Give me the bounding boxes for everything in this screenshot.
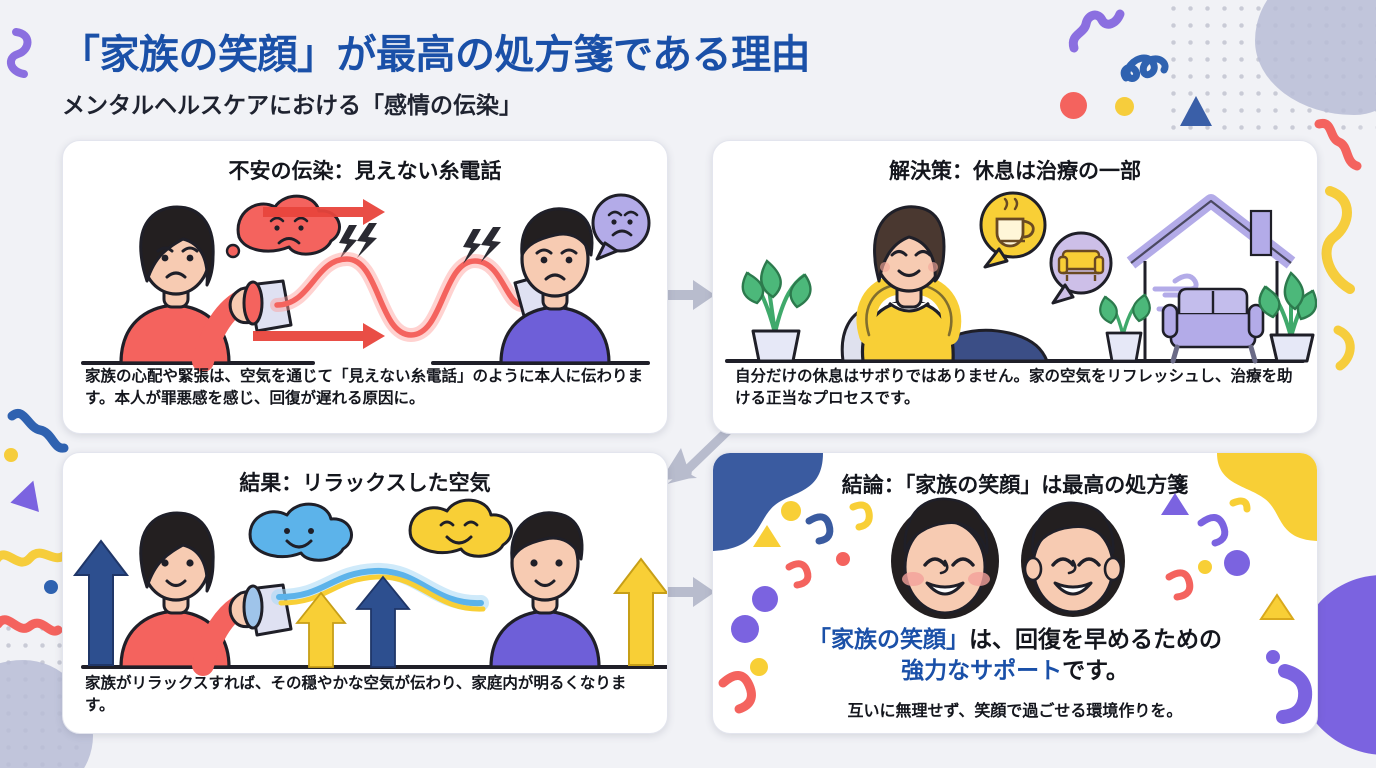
illustration-relaxing-home	[713, 185, 1317, 365]
squiggle-yellow-right-lower	[1330, 326, 1376, 386]
panel-3-title: 結果：リラックスした空気	[63, 467, 667, 497]
panel-1-title: 不安の伝染：見えない糸電話	[63, 155, 667, 185]
triangle-purple-left	[10, 476, 47, 512]
circle-blue-left	[44, 580, 58, 594]
panel-3-caption: 家族がリラックスすれば、その穏やかな空気が伝わり、家庭内が明るくなります。	[85, 672, 649, 717]
illustration-two-smiling-faces	[713, 495, 1317, 625]
squiggle-red-right	[1315, 118, 1376, 178]
circle-red-top	[1060, 92, 1087, 119]
panel-2-caption: 自分だけの休息はサボりではありません。家の空気をリフレッシュし、治療を助ける正当…	[735, 365, 1299, 410]
page-subtitle: メンタルヘルスケアにおける「感情の伝染」	[62, 86, 522, 120]
panel-anxiety-contagion[interactable]: 不安の伝染：見えない糸電話	[62, 140, 668, 434]
squiggle-red-left	[0, 608, 64, 648]
spiral-blue-top	[1118, 30, 1188, 85]
confetti-lower	[713, 613, 1317, 733]
panel-conclusion[interactable]: 結論：「家族の笑顔」は最高の処方箋	[712, 452, 1318, 734]
circle-yellow-left	[4, 448, 18, 462]
squiggle-yellow-right	[1320, 185, 1376, 305]
circle-yellow-top	[1115, 97, 1134, 116]
page-title: 「家族の笑顔」が最高の処方箋である理由	[60, 22, 810, 80]
illustration-tin-can-phone	[63, 185, 667, 365]
panel-result-relaxed-air[interactable]: 結果：リラックスした空気	[62, 452, 668, 734]
panel-solution-rest[interactable]: 解決策：休息は治療の一部	[712, 140, 1318, 434]
infographic-root: 「家族の笑顔」が最高の処方箋である理由 メンタルヘルスケアにおける「感情の伝染」…	[0, 0, 1376, 768]
squiggle-purple-upper-left	[4, 24, 64, 84]
triangle-blue-top	[1180, 96, 1212, 126]
panel-2-title: 解決策：休息は治療の一部	[713, 155, 1317, 185]
panel-1-caption: 家族の心配や緊張は、空気を通じて「見えない糸電話」のように本人に伝わります。本人…	[85, 365, 649, 410]
illustration-relaxed-air	[63, 497, 667, 672]
